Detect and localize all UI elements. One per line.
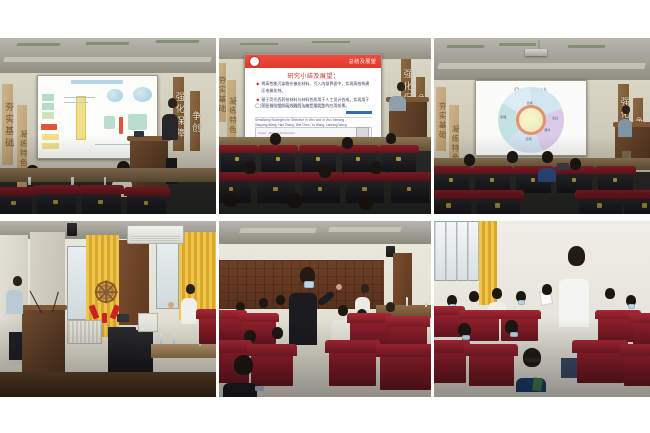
podium-top [19, 305, 67, 310]
theatre-seat [577, 344, 625, 383]
theatre-seat [127, 189, 166, 214]
eyeglasses [525, 358, 540, 362]
photo-panel-bottom-left[interactable] [0, 221, 216, 397]
camera-device [557, 163, 569, 170]
water-bottle [173, 334, 176, 344]
slide-header-bar: 总结及展望 [245, 55, 381, 68]
wall-banner-left-outer: 夯实基础 [2, 84, 13, 165]
scene-lecture-hall-3: 夯实基础 凝练特色 强化保障 争创 Our Work 合成 表征 机理 应用 器… [434, 38, 650, 214]
presenter-head [622, 105, 630, 114]
slide-accent [119, 117, 124, 133]
seat-badge [396, 157, 400, 161]
audience-head [276, 295, 285, 305]
presenter-legs [9, 332, 22, 360]
slide-summary-outlook: 总结及展望 研究小结及展望： ◆ 将高性能污染物光催化材料、引入内部界面中，实现… [245, 55, 381, 141]
slide-header-text: 总结及展望 [349, 58, 377, 65]
donut-label: 机理 [500, 115, 506, 119]
audience-head [287, 193, 302, 208]
ceiling-light [86, 42, 130, 45]
theatre-seat [598, 168, 633, 193]
scene-lecture-hall-1: 夯实基础 凝练特色 强化保障 争创 [0, 38, 216, 214]
theatre-seat [329, 344, 376, 386]
theatre-seat [251, 348, 293, 387]
theatre-seat [557, 168, 592, 193]
face-mask [628, 304, 635, 309]
journal-logo-block: CHEMICAL REVIEWS [255, 104, 372, 118]
ceiling-tile [239, 228, 317, 233]
theatre-seat [633, 316, 650, 346]
slide-globe-graphic [107, 89, 123, 102]
seat-badge [276, 157, 280, 161]
university-seal-icon [249, 56, 260, 67]
seat-badge [490, 178, 494, 182]
water-bottle [28, 177, 31, 185]
seat-badge [229, 187, 234, 192]
donut-label: 应用 [526, 137, 532, 141]
ceiling-light [498, 43, 536, 46]
presenter-head [397, 82, 405, 91]
audience-head [370, 161, 382, 174]
questioner-torso [289, 293, 317, 345]
face-mask [510, 332, 518, 337]
audience-head [359, 196, 373, 210]
slide-box [42, 94, 54, 101]
water-bottle [406, 297, 409, 306]
theatre-seat [0, 189, 32, 214]
theatre-seat [434, 168, 469, 193]
theatre-seat [624, 348, 650, 387]
slide-bullet-text: 将高性能污染物光催化材料、引入内部界面中，实现高效构建压电催化剂。 [261, 81, 370, 93]
ceiling-light [240, 43, 279, 45]
wall-banner-right-outer: 争创 [190, 91, 200, 151]
photo-panel-top-right[interactable]: 夯实基础 凝练特色 强化保障 争创 Our Work 合成 表征 机理 应用 器… [434, 38, 650, 214]
slide-box [42, 143, 59, 149]
ceiling-light [155, 40, 199, 43]
panelist-head [361, 284, 369, 293]
theatre-seat [434, 193, 471, 214]
slide-our-work: Our Work 合成 表征 机理 应用 器件 [476, 81, 586, 155]
radiator [67, 320, 102, 345]
ceiling-projector [525, 49, 547, 56]
theatre-seat [391, 175, 429, 203]
seat-badge [235, 157, 239, 161]
air-conditioner-vent [131, 236, 181, 241]
panelist-head [386, 302, 395, 312]
slide-rule [64, 102, 88, 103]
slide-map-graphic [128, 114, 147, 130]
projection-screen: Our Work 合成 表征 机理 应用 器件 [475, 80, 587, 156]
audience-head [270, 133, 281, 145]
questioner-head [568, 246, 585, 266]
photo-panel-bottom-middle[interactable] [219, 221, 431, 397]
slide-map-graphic [104, 116, 115, 129]
seat-badge [613, 178, 617, 182]
theatre-seat [380, 348, 431, 390]
slide-title: 研究小结及展望： [245, 71, 381, 80]
air-conditioner [127, 225, 183, 244]
ceiling [434, 38, 650, 84]
theatre-seat [434, 344, 466, 383]
water-bottle [104, 177, 107, 185]
seat-badge [273, 187, 278, 192]
presenter-torso [389, 96, 406, 111]
journal-name: CHEMICAL REVIEWS [255, 104, 372, 111]
floor [0, 372, 216, 397]
laptop [134, 131, 144, 137]
theatre-seat [477, 193, 520, 214]
theatre-seat [624, 193, 650, 214]
ceiling-light [312, 41, 351, 43]
face-mask [304, 281, 314, 288]
laptop [117, 314, 129, 322]
ceiling-light [567, 45, 605, 48]
seat-badge [318, 187, 323, 192]
photo-panel-bottom-right[interactable] [434, 221, 650, 397]
collage-row-top: 夯实基础 凝练特色 强化保障 争创 [0, 38, 650, 214]
slide-box [42, 134, 59, 141]
theatre-seat [579, 193, 622, 214]
theatre-seat [475, 168, 510, 193]
theatre-seat [37, 188, 76, 214]
slide-highlight-box [41, 124, 56, 131]
audience-head [319, 165, 331, 178]
slide-bullet: ◆ 将高性能污染物光催化材料、引入内部界面中，实现高效构建压电催化剂。 [256, 81, 370, 93]
seat-badge [449, 178, 453, 182]
window-grille [434, 221, 482, 281]
seat-badge [356, 157, 360, 161]
seat-badge [597, 203, 602, 207]
window [156, 239, 180, 309]
photo-panel-top-left[interactable]: 夯实基础 凝练特色 强化保障 争创 [0, 38, 216, 214]
donut-label: 器件 [544, 128, 550, 132]
questioner-torso [181, 298, 197, 324]
projection-screen: 总结及展望 研究小结及展望： ◆ 将高性能污染物光催化材料、引入内部界面中，实现… [244, 54, 382, 142]
presenter-torso [618, 119, 632, 137]
panelist-torso [355, 297, 370, 310]
slide-box [42, 112, 54, 119]
presenter-torso [162, 114, 178, 140]
wall-banner-left-outer: 夯实基础 [436, 87, 446, 150]
red-ribbon [102, 313, 107, 323]
ceiling-light [17, 43, 61, 46]
theatre-seat [82, 188, 121, 214]
presenter-torso [6, 290, 23, 314]
ceiling-tile [4, 57, 213, 62]
pa-speaker [132, 330, 154, 376]
audience-head [605, 288, 615, 299]
audience-head [507, 151, 518, 163]
seat-badge [362, 187, 367, 192]
audience-head [223, 193, 237, 207]
theatre-seat [382, 147, 416, 172]
scene-audience-question-2 [434, 221, 650, 397]
ceiling-tile [437, 63, 646, 69]
audience-torso [223, 383, 257, 397]
audience-torso [538, 168, 556, 182]
donut-label: 表征 [552, 116, 558, 120]
ceiling-light [446, 45, 484, 48]
audience-head [464, 154, 475, 166]
seat-badge [642, 203, 647, 207]
audience-head [523, 348, 541, 367]
seat-badge [495, 203, 500, 207]
theatre-seat [469, 348, 514, 387]
seat-badge [446, 203, 451, 207]
seat-badge [572, 178, 576, 182]
seat-badge [531, 178, 535, 182]
audience-head [272, 327, 283, 339]
slide-rule [64, 97, 95, 98]
photo-panel-top-middle[interactable]: 夯实基础 凝练特色 强化保障 争创 总结及展望 研究小结及展望： [219, 38, 431, 214]
water-bottle [160, 334, 163, 344]
seat-badge [316, 157, 320, 161]
scene-meeting-room [0, 221, 216, 397]
audience-head [492, 288, 502, 299]
ceiling [219, 221, 431, 244]
floor [0, 168, 216, 182]
theatre-seat [261, 147, 295, 172]
chair [199, 313, 216, 345]
donut-center-ring [516, 105, 546, 135]
seat-badge [144, 201, 149, 206]
face-mask [518, 300, 525, 305]
water-bottle [425, 298, 428, 307]
podium [130, 140, 169, 193]
donut-label: 合成 [527, 101, 533, 105]
bullet-marker-icon: ◆ [256, 81, 259, 93]
ceiling [0, 38, 216, 77]
questioner-hand [336, 284, 342, 290]
seat-badge [11, 201, 15, 206]
scene-lecture-hall-2: 夯实基础 凝练特色 强化保障 争创 总结及展望 研究小结及展望： [219, 38, 431, 214]
seat-badge [53, 200, 58, 205]
seat-badge [98, 200, 103, 205]
audience-head [386, 133, 396, 144]
ships-wheel-decoration [95, 281, 117, 303]
audience-head [234, 355, 253, 375]
journal-accent-bar [346, 111, 372, 114]
seat-badge [407, 187, 412, 192]
presenter-head [13, 276, 22, 286]
slide-globe-graphic [133, 87, 152, 102]
room-door [393, 253, 412, 313]
audience-head [542, 151, 553, 163]
ceiling-tile [328, 227, 402, 232]
presenter-head [168, 98, 177, 108]
theatre-seat [302, 175, 340, 203]
photo-collage: 夯实基础 凝练特色 强化保障 争创 [0, 38, 650, 397]
scene-audience-question-1 [219, 221, 431, 397]
collage-row-bottom [0, 221, 650, 397]
slide-title-bar [71, 80, 123, 84]
wall-banner-left-outer: 夯实基础 [219, 63, 226, 123]
water-bottle [71, 177, 74, 185]
podium [22, 309, 65, 379]
audience-head [342, 137, 353, 149]
wall-loudspeaker [67, 223, 77, 236]
questioner-head [186, 284, 195, 294]
questioner-torso [559, 279, 589, 327]
audience-head [542, 284, 552, 295]
audience-head [244, 161, 256, 174]
audience-head [469, 291, 479, 302]
audience-head [570, 158, 581, 170]
smartphone [255, 386, 264, 391]
equipment-box [138, 313, 157, 332]
slide-box [42, 103, 54, 110]
conference-table [151, 344, 216, 358]
